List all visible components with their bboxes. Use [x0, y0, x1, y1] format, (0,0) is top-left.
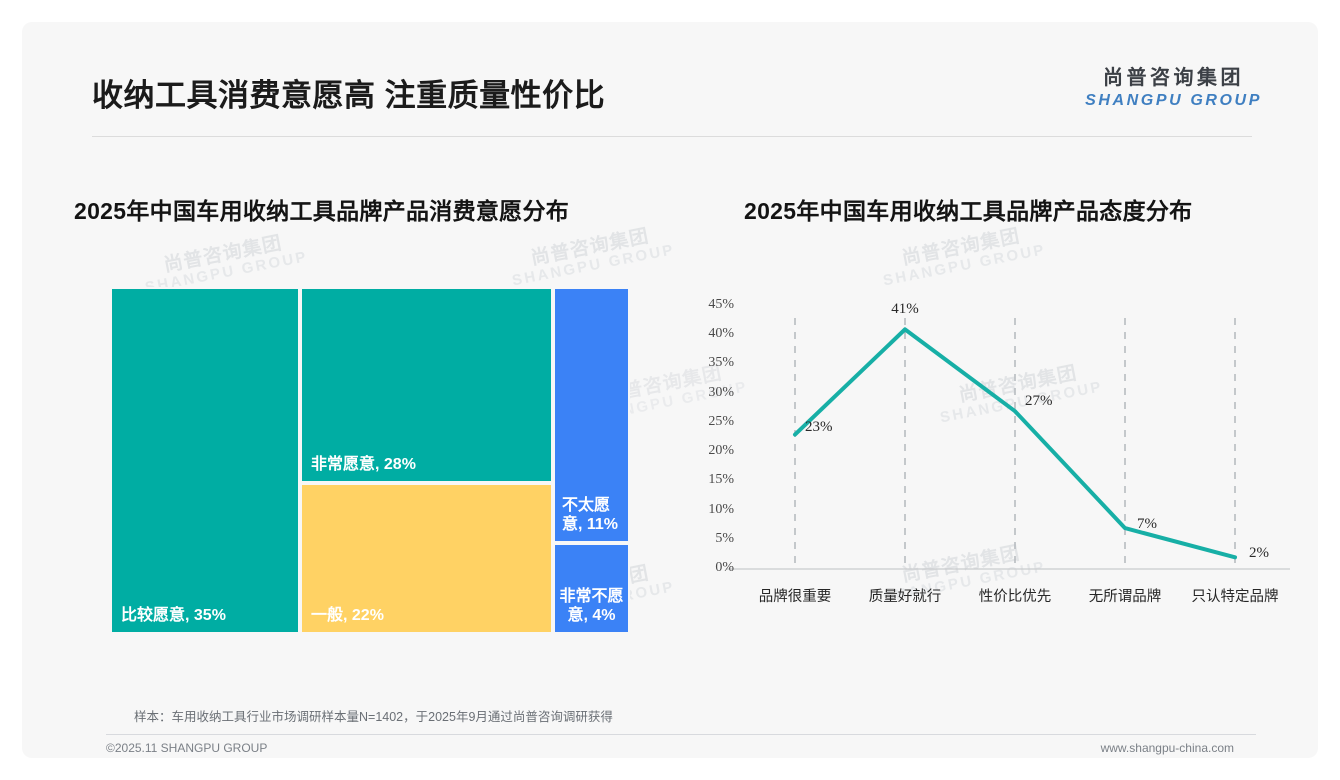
- x-axis-tick-label: 只认特定品牌: [1192, 585, 1279, 606]
- treemap-cell[interactable]: 非常不愿意, 4%: [553, 543, 630, 634]
- x-axis-tick-label: 无所谓品牌: [1089, 585, 1162, 606]
- x-axis-tick-label: 品牌很重要: [759, 585, 832, 606]
- data-point-label: 27%: [1025, 393, 1053, 410]
- treemap-cell-label: 非常不愿意, 4%: [559, 587, 624, 626]
- source-footnote: 样本：车用收纳工具行业市场调研样本量N=1402，于2025年9月通过尚普咨询调…: [134, 706, 613, 725]
- watermark-cn: 尚普咨询集团: [878, 222, 1044, 274]
- treemap-cell-label: 一般, 22%: [311, 606, 384, 626]
- x-axis-tick-label: 质量好就行: [869, 585, 942, 606]
- y-axis-tick-label: 0%: [688, 560, 734, 576]
- slide-canvas: 尚普咨询集团 SHANGPU GROUP 尚普咨询集团 SHANGPU GROU…: [22, 22, 1318, 758]
- treemap-cell-label: 比较愿意, 35%: [121, 606, 226, 626]
- watermark-cn: 尚普咨询集团: [507, 222, 673, 274]
- watermark-cn: 尚普咨询集团: [140, 229, 306, 281]
- header-divider: [92, 136, 1252, 137]
- y-axis-tick-label: 5%: [688, 531, 734, 547]
- y-axis-tick-label: 30%: [688, 385, 734, 401]
- treemap-cell[interactable]: 非常愿意, 28%: [300, 287, 553, 483]
- data-point-label: 41%: [891, 301, 919, 318]
- watermark-en: SHANGPU GROUP: [511, 242, 677, 290]
- consumption-willingness-treemap: 比较愿意, 35%非常愿意, 28%一般, 22%不太愿意, 11%非常不愿意,…: [110, 287, 630, 634]
- footer-divider: [106, 734, 1256, 735]
- treemap-cell[interactable]: 不太愿意, 11%: [553, 287, 630, 543]
- data-point-label: 2%: [1249, 545, 1269, 562]
- treemap-cell[interactable]: 一般, 22%: [300, 483, 553, 634]
- footer-website[interactable]: www.shangpu-china.com: [1101, 741, 1234, 755]
- x-axis-tick-label: 性价比优先: [979, 585, 1052, 606]
- footer-copyright: ©2025.11 SHANGPU GROUP: [106, 741, 267, 755]
- logo-text-cn: 尚普咨询集团: [1085, 66, 1262, 91]
- y-axis-tick-label: 45%: [688, 297, 734, 313]
- y-axis-tick-label: 40%: [688, 326, 734, 342]
- slide-header: 收纳工具消费意愿高 注重质量性价比 尚普咨询集团 SHANGPU GROUP: [22, 22, 1318, 114]
- line-chart-svg: [682, 284, 1302, 614]
- right-chart-title: 2025年中国车用收纳工具品牌产品态度分布: [744, 192, 1192, 226]
- data-point-label: 23%: [805, 419, 833, 436]
- treemap-cell[interactable]: 比较愿意, 35%: [110, 287, 300, 634]
- y-axis-tick-label: 25%: [688, 414, 734, 430]
- data-point-label: 7%: [1137, 516, 1157, 533]
- logo-text-en: SHANGPU GROUP: [1085, 91, 1262, 110]
- y-axis-tick-label: 20%: [688, 443, 734, 459]
- watermark: 尚普咨询集团 SHANGPU GROUP: [507, 222, 677, 291]
- y-axis-tick-label: 35%: [688, 355, 734, 371]
- watermark: 尚普咨询集团 SHANGPU GROUP: [878, 222, 1048, 291]
- treemap-cell-label: 非常愿意, 28%: [311, 455, 416, 475]
- brand-logo: 尚普咨询集团 SHANGPU GROUP: [1085, 66, 1262, 110]
- y-axis-tick-label: 10%: [688, 502, 734, 518]
- page-title: 收纳工具消费意愿高 注重质量性价比: [92, 70, 605, 115]
- brand-attitude-line-chart: 0%5%10%15%20%25%30%35%40%45%23%41%27%7%2…: [682, 284, 1302, 614]
- y-axis-tick-label: 15%: [688, 472, 734, 488]
- treemap-cell-label: 不太愿意, 11%: [562, 496, 623, 535]
- left-chart-title: 2025年中国车用收纳工具品牌产品消费意愿分布: [74, 192, 569, 226]
